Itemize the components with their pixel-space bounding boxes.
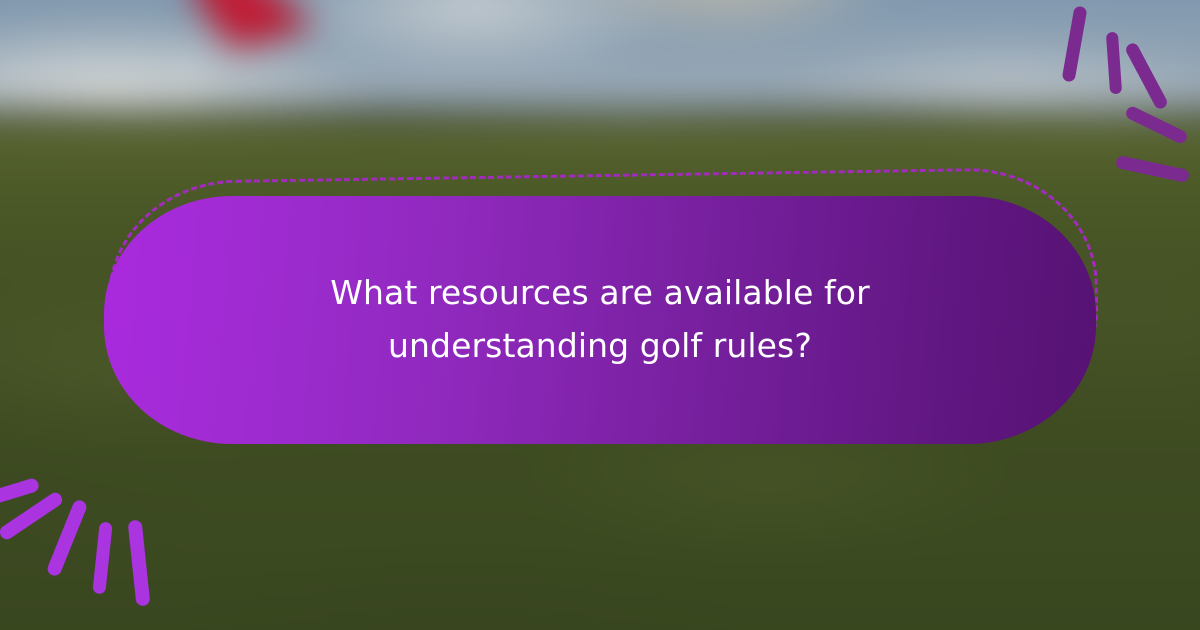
sparkle-ray	[92, 522, 112, 595]
question-line-1: What resources are available for	[183, 266, 1016, 319]
question-card[interactable]: What resources are available for underst…	[104, 196, 1096, 444]
question-text: What resources are available for underst…	[183, 266, 1016, 375]
sparkle-burst-bottom-left	[0, 450, 190, 630]
sparkle-ray	[1124, 41, 1169, 111]
sparkle-ray	[1124, 105, 1189, 146]
sparkle-ray	[1115, 155, 1190, 183]
sparkle-ray	[1062, 5, 1088, 82]
screenshot-canvas: What resources are available for underst…	[0, 0, 1200, 630]
sparkle-ray	[1106, 32, 1122, 95]
sparkle-burst-top-right	[1000, 0, 1200, 180]
sparkle-ray	[128, 520, 151, 607]
question-line-2: understanding golf rules?	[183, 319, 1016, 372]
